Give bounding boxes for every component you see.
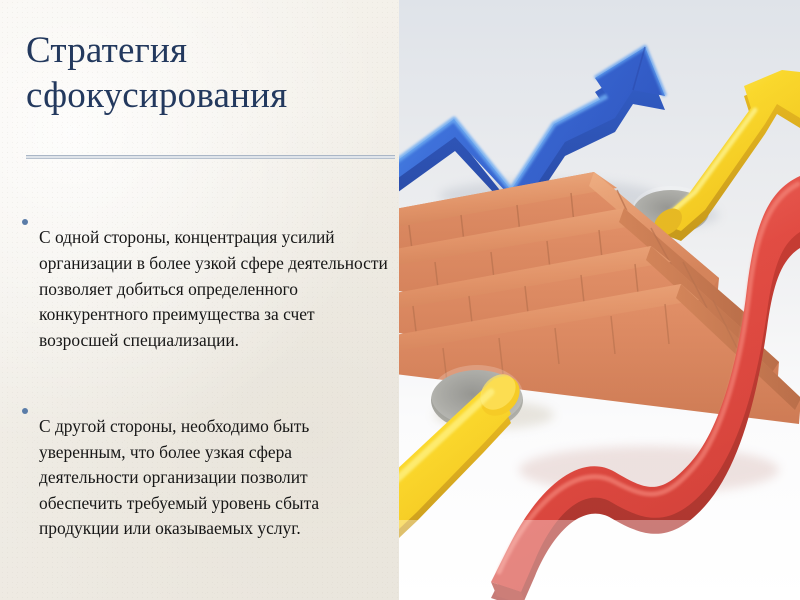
- list-item: С другой стороны, необходимо быть уверен…: [22, 397, 394, 560]
- title-divider: [26, 155, 395, 160]
- bullet-dot-icon: [22, 408, 28, 414]
- bottom-light-wash: [399, 520, 800, 600]
- arrows-and-wall-illustration: [399, 0, 800, 600]
- bullet-list: С одной стороны, концентрация усилий орг…: [22, 208, 394, 585]
- bullet-text: С другой стороны, необходимо быть уверен…: [39, 414, 394, 542]
- page-title: Стратегия сфокусирования: [26, 28, 398, 118]
- lighting-overlay: [399, 0, 800, 600]
- divider-line-bottom: [26, 158, 395, 159]
- list-item: С одной стороны, концентрация усилий орг…: [22, 208, 394, 371]
- bullet-text: С одной стороны, концентрация усилий орг…: [39, 225, 394, 353]
- title-block: Стратегия сфокусирования: [26, 28, 398, 118]
- presentation-slide: Стратегия сфокусирования С одной стороны…: [0, 0, 800, 600]
- bullet-dot-icon: [22, 219, 28, 225]
- illustration-photo: [399, 0, 800, 600]
